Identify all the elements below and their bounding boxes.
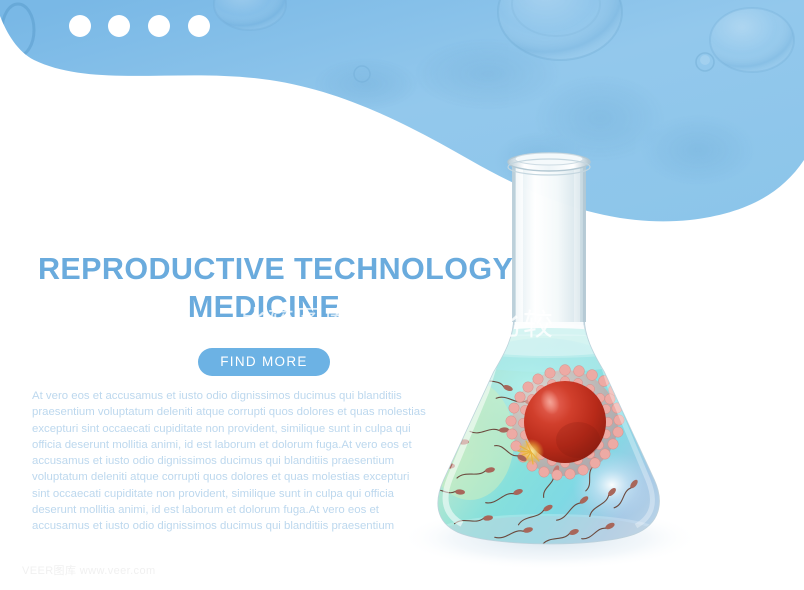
decor-dot-1 bbox=[69, 15, 91, 37]
find-more-button[interactable]: FIND MORE bbox=[198, 348, 329, 376]
body-paragraph: At vero eos et accusamus et iusto odio d… bbox=[32, 388, 430, 535]
cta-container: FIND MORE bbox=[38, 348, 490, 376]
flask-neck bbox=[512, 166, 586, 322]
decor-dot-3 bbox=[148, 15, 170, 37]
decor-dot-4 bbox=[188, 15, 210, 37]
decor-dot-2 bbox=[108, 15, 130, 37]
title-line-1: REPRODUCTIVE TECHNOLOGY bbox=[38, 250, 490, 288]
page-title: REPRODUCTIVE TECHNOLOGY MEDICINE bbox=[38, 250, 490, 326]
veer-watermark: VEER图库 www.veer.com bbox=[22, 562, 156, 578]
title-line-2: MEDICINE bbox=[38, 288, 490, 326]
banner-canvas: REPRODUCTIVE TECHNOLOGY MEDICINE FIND MO… bbox=[0, 0, 804, 590]
fertilization-spark bbox=[518, 439, 544, 465]
